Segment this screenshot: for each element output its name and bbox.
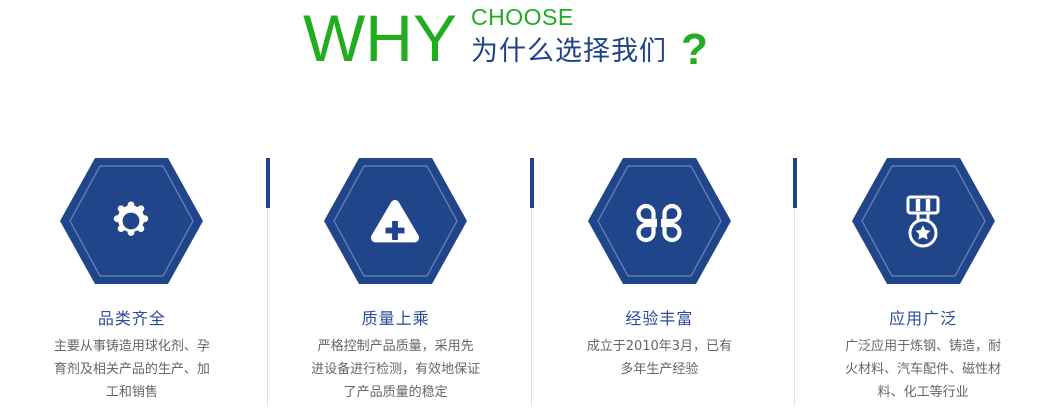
card-title: 应用广泛 bbox=[889, 308, 957, 330]
feature-card: 应用广泛 广泛应用于炼钢、铸造，耐 火材料、汽车配件、磁性材 料、化工等行业 bbox=[791, 150, 1055, 416]
feature-card: 质量上乘 严格控制产品质量，采用先 进设备进行检测，有效地保证 了产品质量的稳定 bbox=[264, 150, 528, 416]
card-description: 广泛应用于炼钢、铸造，耐 火材料、汽车配件、磁性材 料、化工等行业 bbox=[816, 335, 1031, 404]
headline-subtitle-row: 为什么选择我们 ? bbox=[471, 32, 708, 72]
feature-card: 品类齐全 主要从事铸造用球化剂、孕 育剂及相关产品的生产、加 工和销售 bbox=[0, 150, 264, 416]
feature-cards-row: 品类齐全 主要从事铸造用球化剂、孕 育剂及相关产品的生产、加 工和销售 bbox=[0, 150, 1055, 416]
card-desc-line: 严格控制产品质量，采用先 bbox=[288, 335, 503, 358]
gear-icon bbox=[107, 197, 155, 245]
hexagon-badge bbox=[323, 156, 468, 286]
headline-subtitle-cn: 为什么选择我们 bbox=[471, 35, 667, 69]
card-desc-line: 多年生产经验 bbox=[552, 358, 767, 381]
section-header: WHY CHOOSE 为什么选择我们 ? bbox=[0, 0, 1055, 95]
card-desc-line: 进设备进行检测，有效地保证 bbox=[288, 358, 503, 381]
card-desc-line: 工和销售 bbox=[24, 381, 239, 404]
hexagon-badge bbox=[851, 156, 996, 286]
card-description: 成立于2010年3月，已有 多年生产经验 bbox=[552, 335, 767, 381]
headline-choose: CHOOSE bbox=[471, 4, 708, 30]
triangle-plus-icon bbox=[367, 197, 423, 247]
card-desc-line: 成立于2010年3月，已有 bbox=[552, 335, 767, 358]
card-title: 品类齐全 bbox=[98, 308, 166, 330]
headline-right-group: CHOOSE 为什么选择我们 ? bbox=[471, 4, 708, 72]
card-desc-line: 育剂及相关产品的生产、加 bbox=[24, 358, 239, 381]
hexagon-badge bbox=[587, 156, 732, 286]
hexagon-badge bbox=[59, 156, 204, 286]
clover-icon bbox=[633, 197, 685, 249]
headline-why: WHY bbox=[303, 2, 457, 74]
header-title-group: WHY CHOOSE 为什么选择我们 ? bbox=[303, 0, 708, 74]
card-desc-line: 广泛应用于炼钢、铸造，耐 bbox=[816, 335, 1031, 358]
card-title: 质量上乘 bbox=[362, 308, 430, 330]
card-desc-line: 料、化工等行业 bbox=[816, 381, 1031, 404]
card-title: 经验丰富 bbox=[625, 308, 693, 330]
card-desc-line: 主要从事铸造用球化剂、孕 bbox=[24, 335, 239, 358]
question-mark-icon: ? bbox=[681, 28, 708, 72]
card-desc-line: 了产品质量的稳定 bbox=[288, 381, 503, 404]
card-description: 主要从事铸造用球化剂、孕 育剂及相关产品的生产、加 工和销售 bbox=[24, 335, 239, 404]
feature-card: 经验丰富 成立于2010年3月，已有 多年生产经验 bbox=[528, 150, 792, 416]
card-description: 严格控制产品质量，采用先 进设备进行检测，有效地保证 了产品质量的稳定 bbox=[288, 335, 503, 404]
card-desc-line: 火材料、汽车配件、磁性材 bbox=[816, 358, 1031, 381]
medal-icon bbox=[898, 194, 948, 250]
